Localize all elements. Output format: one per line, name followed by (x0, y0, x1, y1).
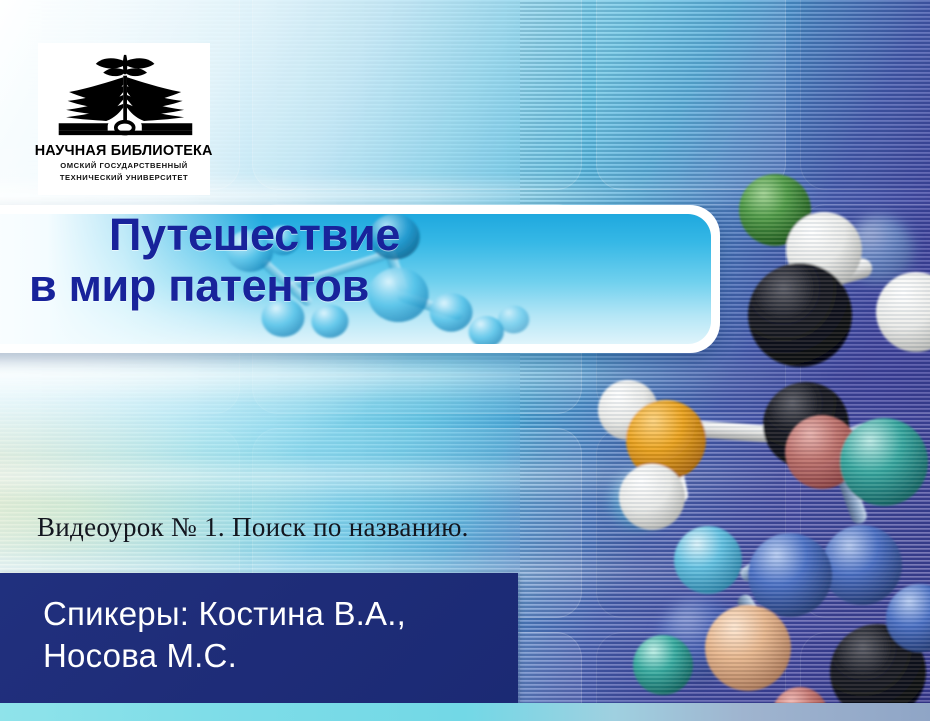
library-logo: НАУЧНАЯ БИБЛИОТЕКА ОМСКИЙ ГОСУДАРСТВЕННЫ… (38, 43, 210, 195)
speakers-box: Спикеры: Костина В.А., Носова М.С. (0, 573, 518, 704)
logo-subtitle-line-2: ТЕХНИЧЕСКИЙ УНИВЕРСИТЕТ (60, 173, 188, 183)
title-line-1: Путешествие (109, 214, 400, 260)
title-panel-inner: Путешествие в мир патентов (0, 214, 711, 344)
logo-subtitle-line-1: ОМСКИЙ ГОСУДАРСТВЕННЫЙ (60, 161, 187, 171)
page-title: Путешествие в мир патентов (109, 214, 669, 312)
lesson-subtitle: Видеоурок № 1. Поиск по названию. (37, 512, 469, 543)
speakers-text: Спикеры: Костина В.А., Носова М.С. (43, 593, 406, 677)
bottom-accent-strip (0, 703, 930, 721)
presentation-slide: Путешествие в мир патентов (0, 0, 930, 721)
logo-title: НАУЧНАЯ БИБЛИОТЕКА (35, 142, 213, 159)
title-line-2: в мир патентов (29, 261, 669, 312)
title-panel: Путешествие в мир патентов (0, 205, 720, 353)
open-book-icon (49, 49, 199, 141)
